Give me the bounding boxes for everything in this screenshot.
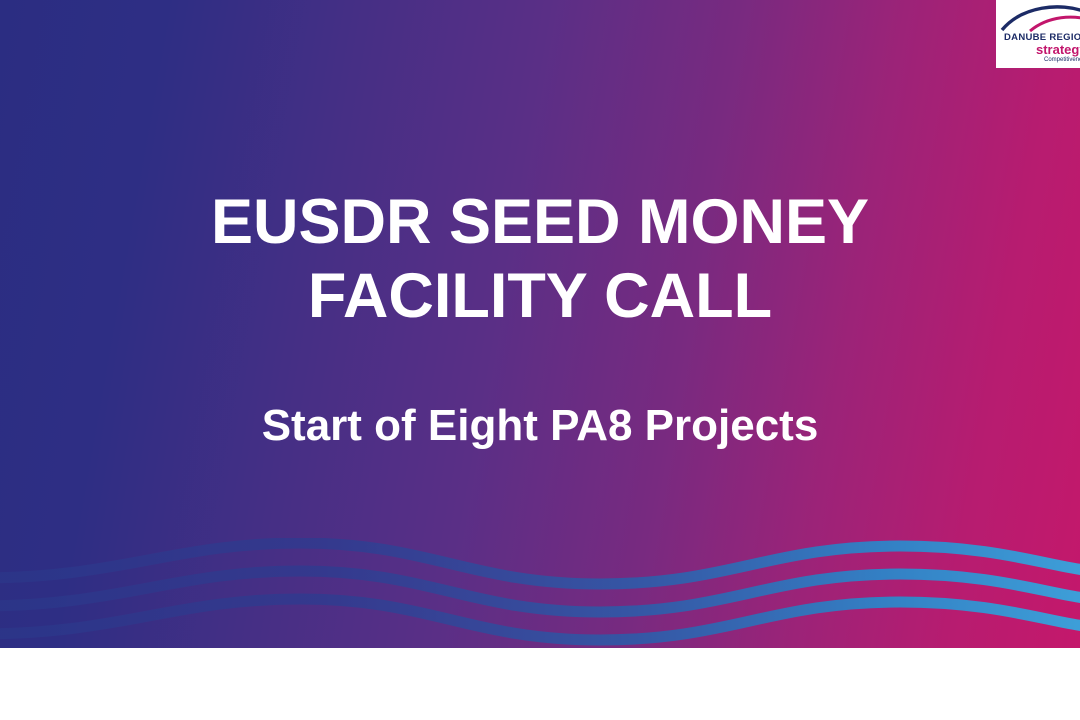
title-block: EUSDR SEED MONEY FACILITY CALL (0, 186, 1080, 333)
slide-background: EUSDR SEED MONEY FACILITY CALL Start of … (0, 0, 1080, 648)
corner-logo-danube-region-strategy: DANUBE REGION strategy Competitiveness (996, 0, 1080, 68)
corner-logo-sub: strategy (1036, 42, 1080, 57)
danube-swoosh-icon (1000, 2, 1080, 32)
presentation-slide: EUSDR SEED MONEY FACILITY CALL Start of … (0, 0, 1080, 720)
page-subtitle: Start of Eight PA8 Projects (0, 400, 1080, 453)
footer-logo-bar: DANUBE REGION strategy Prosperity throug… (0, 648, 1080, 720)
corner-logo-tagline: Competitiveness (1044, 57, 1080, 63)
page-title: EUSDR SEED MONEY FACILITY CALL (0, 186, 1080, 333)
wave-decoration (0, 538, 1080, 648)
